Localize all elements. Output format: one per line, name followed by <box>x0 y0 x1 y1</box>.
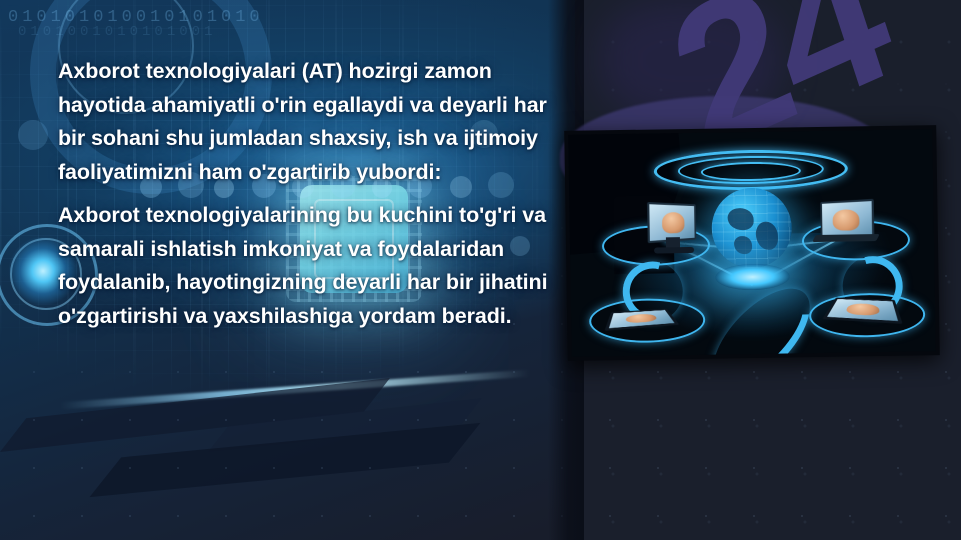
laptop-icon <box>817 200 874 239</box>
globe-continent-3 <box>734 236 752 254</box>
paragraph-2: Axborot texnologiyalarining bu kuchini t… <box>58 199 558 333</box>
tablet-left-screen <box>605 309 680 331</box>
desktop-monitor-icon <box>647 203 700 242</box>
image-inner-frame <box>568 129 935 357</box>
paragraph-1: Axborot texnologiyalari (AT) hozirgi zam… <box>58 55 558 189</box>
tablet-right-icon <box>829 290 898 327</box>
network-illustration-image <box>564 125 940 361</box>
tablet-right-screen <box>822 298 902 324</box>
tablet-left-icon <box>609 301 673 334</box>
presentation-slide: 010101010010101010 0101001010101001 24 A… <box>0 0 961 540</box>
text-content-block: Axborot texnologiyalari (AT) hozirgi zam… <box>58 55 558 333</box>
laptop-keyboard-base <box>812 234 880 242</box>
monitor-base <box>654 247 694 254</box>
